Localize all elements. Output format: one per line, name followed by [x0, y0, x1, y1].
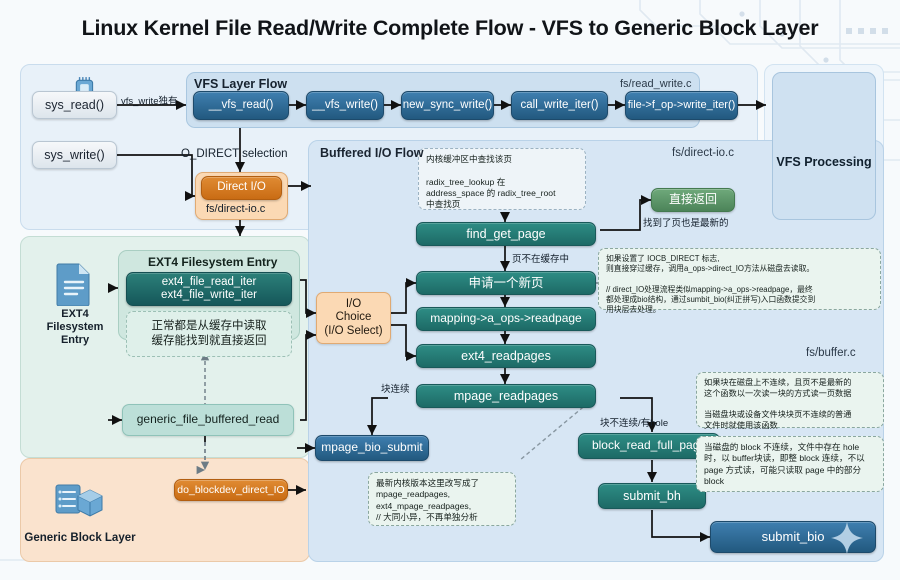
page-found-latest-label: 找到了页也是最新的 — [643, 215, 729, 229]
ext4-read-iter-label: ext4_file_read_iter — [162, 276, 257, 289]
submit-bh-note: 当磁盘的 block 不连续，文件中存在 hole 时，以 buffer块读，即… — [696, 436, 884, 492]
readpage-box[interactable]: mapping->a_ops->readpage — [416, 307, 596, 331]
vfs-chain-box-4[interactable]: file->f_op->write_iter() — [625, 91, 738, 120]
direct-io-box[interactable]: Direct I/O — [201, 176, 282, 200]
blocks-not-contiguous-label: 块不连续/有hole — [600, 415, 668, 429]
radix-lookup-note: 内核缓冲区中查找该页 radix_tree_lookup 在 address_s… — [418, 148, 586, 210]
vfs-flow-title: VFS Layer Flow — [194, 77, 287, 91]
buffered-io-title: Buffered I/O Flow — [320, 146, 423, 160]
ext4-cache-note: 正常都是从缓存中读取 缓存能找到就直接返回 — [126, 311, 292, 357]
ext4-side-label: EXT4 Filesystem Entry — [30, 308, 120, 348]
mpage-readpages-note: 最新内核版本这里改写成了 mpage_readpages, ext4_mpage… — [368, 472, 516, 526]
vfs-processing-label: VFS Processing — [773, 155, 875, 169]
find-get-page-box[interactable]: find_get_page — [416, 222, 596, 246]
ext4-iter-box[interactable]: ext4_file_read_iter ext4_file_write_iter — [126, 272, 292, 306]
sys-write-box[interactable]: sys_write() — [32, 141, 117, 169]
direct-io-file-label: fs/direct-io.c — [206, 203, 265, 215]
vfs-chain-box-2[interactable]: new_sync_write() — [401, 91, 494, 120]
buffered-io-file-label: fs/direct-io.c — [672, 147, 734, 159]
o-direct-selection-label: O_DIRECT selection — [181, 148, 288, 160]
ext4-readpages-box[interactable]: ext4_readpages — [416, 344, 596, 368]
iocb-direct-note: 如果设置了 IOCB_DIRECT 标志, 则直接穿过缓存，调用a_ops->d… — [598, 248, 881, 310]
mpage-bio-submit-box[interactable]: mpage_bio_submit — [315, 435, 429, 461]
server-cube-icon — [54, 482, 104, 529]
vfs-chain-box-0[interactable]: __vfs_read() — [193, 91, 289, 120]
generic-block-side-label: Generic Block Layer — [20, 532, 140, 546]
ext4-write-iter-label: ext4_file_write_iter — [161, 289, 257, 302]
sparkle-icon — [828, 519, 866, 562]
vfs-flow-file-label: fs/read_write.c — [620, 78, 692, 90]
io-choice-box[interactable]: I/O Choice (I/O Select) — [316, 292, 391, 344]
vfs-chain-box-3[interactable]: call_write_iter() — [511, 91, 608, 120]
buffer-c-file-label: fs/buffer.c — [806, 347, 856, 359]
do-blockdev-direct-io-box[interactable]: do_blockdev_direct_IO — [174, 479, 288, 501]
page-title: Linux Kernel File Read/Write Complete Fl… — [0, 16, 900, 41]
direct-return-box[interactable]: 直接返回 — [651, 188, 735, 212]
blocks-contiguous-label: 块连续 — [381, 381, 410, 395]
alloc-page-box[interactable]: 申请一个新页 — [416, 271, 596, 295]
mpage-readpages-box[interactable]: mpage_readpages — [416, 384, 596, 408]
block-read-full-page-note: 如果块在磁盘上不连续，且页不是最新的 这个函数以一次读一块的方式读一页数据 当磁… — [696, 372, 884, 428]
ext4-entry-title: EXT4 Filesystem Entry — [148, 255, 277, 269]
submit-bh-box[interactable]: submit_bh — [598, 483, 706, 509]
generic-file-buffered-read-box[interactable]: generic_file_buffered_read — [122, 404, 294, 436]
vfs-processing-box[interactable]: VFS Processing — [772, 72, 876, 220]
page-not-in-cache-label: 页不在缓存中 — [512, 251, 569, 265]
sys-read-box[interactable]: sys_read() — [32, 91, 117, 119]
diagram-canvas: Linux Kernel File Read/Write Complete Fl… — [0, 0, 900, 580]
file-document-icon — [55, 262, 93, 311]
vfs-chain-box-1[interactable]: __vfs_write() — [306, 91, 384, 120]
vfs-write-only-label: vfs_write独有 — [121, 93, 177, 107]
